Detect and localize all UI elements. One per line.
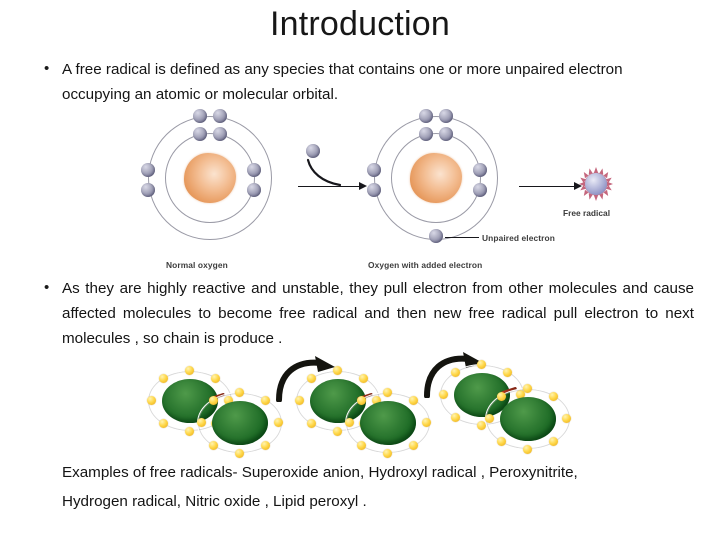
slide-canvas: Introduction • A free radical is defined…	[0, 0, 720, 539]
electron-icon	[185, 427, 194, 436]
electron-icon	[235, 388, 244, 397]
molecule-core	[360, 401, 416, 445]
radical-arrow-line	[519, 186, 575, 187]
figure-chain-reaction	[145, 358, 560, 450]
electron-icon	[439, 390, 448, 399]
electron-icon	[159, 419, 168, 428]
electron-icon	[359, 374, 368, 383]
caption-normal-oxygen: Normal oxygen	[166, 260, 228, 270]
molecule-icon	[345, 392, 431, 454]
electron-icon	[333, 366, 342, 375]
electron-icon	[367, 183, 381, 197]
electron-icon	[274, 418, 283, 427]
reaction-arrow-head	[359, 182, 367, 190]
electron-icon	[247, 183, 261, 197]
electron-icon	[307, 419, 316, 428]
electron-icon	[473, 183, 487, 197]
electron-icon	[485, 414, 494, 423]
bullet-item-1: • A free radical is defined as any speci…	[38, 57, 686, 107]
electron-icon	[523, 445, 532, 454]
electron-icon	[211, 374, 220, 383]
electron-icon	[439, 127, 453, 141]
electron-icon	[439, 109, 453, 123]
electron-icon	[419, 127, 433, 141]
electron-icon	[295, 396, 304, 405]
electron-icon	[562, 414, 571, 423]
reaction-arrow-line	[298, 186, 360, 187]
free-radical-core	[585, 173, 607, 195]
electron-icon	[473, 163, 487, 177]
figure-oxygen-atoms: Normal oxygen Unpaired electron Oxygen w…	[120, 108, 650, 273]
examples-text: Examples of free radicals- Superoxide an…	[62, 458, 702, 516]
electron-icon	[261, 396, 270, 405]
examples-line-2: Hydrogen radical, Nitric oxide , Lipid p…	[62, 487, 702, 516]
free-radical-icon	[579, 167, 613, 201]
electron-icon	[193, 127, 207, 141]
atom-oxygen-added-electron	[374, 116, 498, 240]
electron-icon	[503, 368, 512, 377]
electron-icon	[409, 396, 418, 405]
electron-icon	[235, 449, 244, 458]
electron-icon	[213, 109, 227, 123]
electron-icon	[549, 437, 558, 446]
label-free-radical: Free radical	[563, 208, 610, 218]
electron-icon	[209, 441, 218, 450]
electron-icon	[357, 396, 366, 405]
bullet-marker: •	[38, 57, 62, 107]
nucleus-icon	[184, 153, 236, 203]
electron-icon	[497, 437, 506, 446]
electron-icon	[451, 413, 460, 422]
electron-icon	[213, 127, 227, 141]
electron-icon	[209, 396, 218, 405]
electron-icon	[451, 368, 460, 377]
caption-oxygen-added-electron: Oxygen with added electron	[368, 260, 482, 270]
bullet-item-2: • As they are highly reactive and unstab…	[38, 276, 694, 351]
molecule-core	[500, 397, 556, 441]
electron-icon	[497, 392, 506, 401]
molecule-core	[212, 401, 268, 445]
electron-icon	[477, 360, 486, 369]
molecule-icon	[485, 388, 571, 450]
electron-icon	[422, 418, 431, 427]
electron-icon	[247, 163, 261, 177]
unpaired-electron-icon	[429, 229, 443, 243]
electron-icon	[383, 449, 392, 458]
bullet-text-1: A free radical is defined as any species…	[62, 57, 682, 107]
electron-icon	[261, 441, 270, 450]
electron-icon	[197, 418, 206, 427]
electron-icon	[147, 396, 156, 405]
electron-icon	[345, 418, 354, 427]
electron-icon	[549, 392, 558, 401]
bullet-text-2: As they are highly reactive and unstable…	[62, 276, 694, 351]
unpaired-electron-leader-line	[445, 237, 479, 238]
molecule-icon	[197, 392, 283, 454]
page-title: Introduction	[0, 2, 720, 46]
curved-transfer-arrow-icon	[300, 158, 366, 194]
electron-icon	[159, 374, 168, 383]
electron-icon	[307, 374, 316, 383]
atom-normal-oxygen	[148, 116, 272, 240]
callout-unpaired-electron: Unpaired electron	[482, 233, 555, 243]
electron-icon	[367, 163, 381, 177]
electron-icon	[333, 427, 342, 436]
nucleus-icon	[410, 153, 462, 203]
electron-icon	[523, 384, 532, 393]
incoming-electron-icon	[306, 144, 320, 158]
electron-icon	[185, 366, 194, 375]
electron-icon	[141, 183, 155, 197]
electron-icon	[419, 109, 433, 123]
electron-icon	[193, 109, 207, 123]
electron-icon	[409, 441, 418, 450]
examples-line-1: Examples of free radicals- Superoxide an…	[62, 458, 702, 487]
electron-icon	[383, 388, 392, 397]
electron-icon	[141, 163, 155, 177]
electron-icon	[357, 441, 366, 450]
bullet-marker: •	[38, 276, 62, 351]
